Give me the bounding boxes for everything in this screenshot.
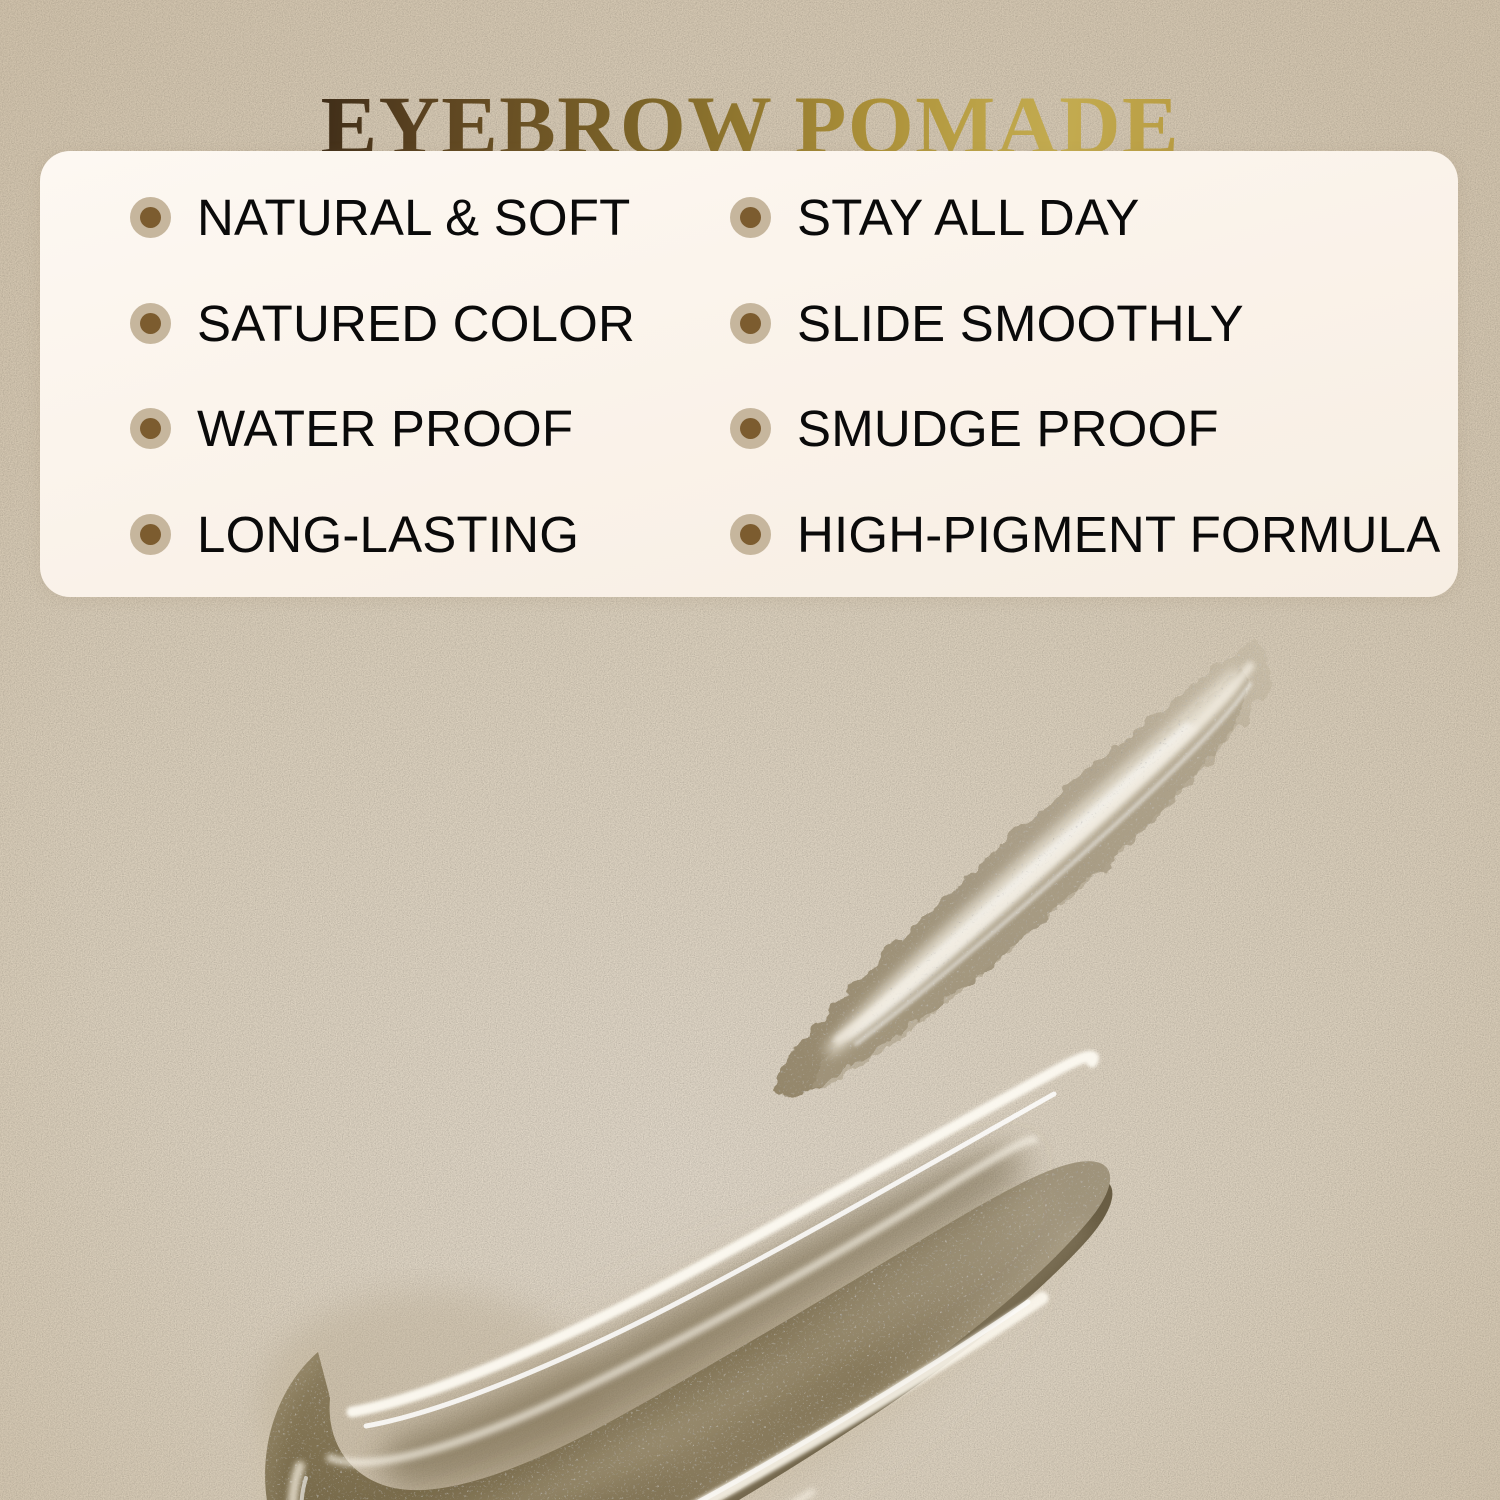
feature-label: HIGH-PIGMENT FORMULA xyxy=(797,509,1440,560)
product-swatch-area xyxy=(0,600,1500,1500)
feature-label: LONG-LASTING xyxy=(197,509,579,560)
feature-item-natural-soft: NATURAL & SOFT xyxy=(40,165,640,271)
feature-item-water-proof: WATER PROOF xyxy=(40,376,640,482)
feature-item-slide-smoothly: SLIDE SMOOTHLY xyxy=(640,271,1458,377)
feature-item-satured-color: SATURED COLOR xyxy=(40,271,640,377)
bullet-dot-icon xyxy=(730,197,771,238)
feature-label: SMUDGE PROOF xyxy=(797,403,1219,454)
feature-label: WATER PROOF xyxy=(197,403,573,454)
feature-item-smudge-proof: SMUDGE PROOF xyxy=(640,376,1458,482)
bullet-dot-icon xyxy=(130,514,171,555)
bullet-dot-icon xyxy=(730,408,771,449)
feature-label: NATURAL & SOFT xyxy=(197,192,631,243)
bullet-dot-icon xyxy=(130,408,171,449)
features-grid: NATURAL & SOFT STAY ALL DAY SATURED COLO… xyxy=(40,151,1458,597)
feature-label: SLIDE SMOOTHLY xyxy=(797,298,1244,349)
features-card: NATURAL & SOFT STAY ALL DAY SATURED COLO… xyxy=(40,151,1458,597)
bullet-dot-icon xyxy=(130,197,171,238)
feature-item-stay-all-day: STAY ALL DAY xyxy=(640,165,1458,271)
eyebrow-pomade-smear xyxy=(0,600,1500,1500)
feature-label: STAY ALL DAY xyxy=(797,192,1140,243)
bullet-dot-icon xyxy=(730,514,771,555)
bullet-dot-icon xyxy=(730,303,771,344)
product-infographic: EYEBROW POMADE NATURAL & SOFT STAY ALL D… xyxy=(0,0,1500,1500)
feature-item-high-pigment-formula: HIGH-PIGMENT FORMULA xyxy=(640,482,1458,588)
bullet-dot-icon xyxy=(130,303,171,344)
feature-label: SATURED COLOR xyxy=(197,298,635,349)
feature-item-long-lasting: LONG-LASTING xyxy=(40,482,640,588)
